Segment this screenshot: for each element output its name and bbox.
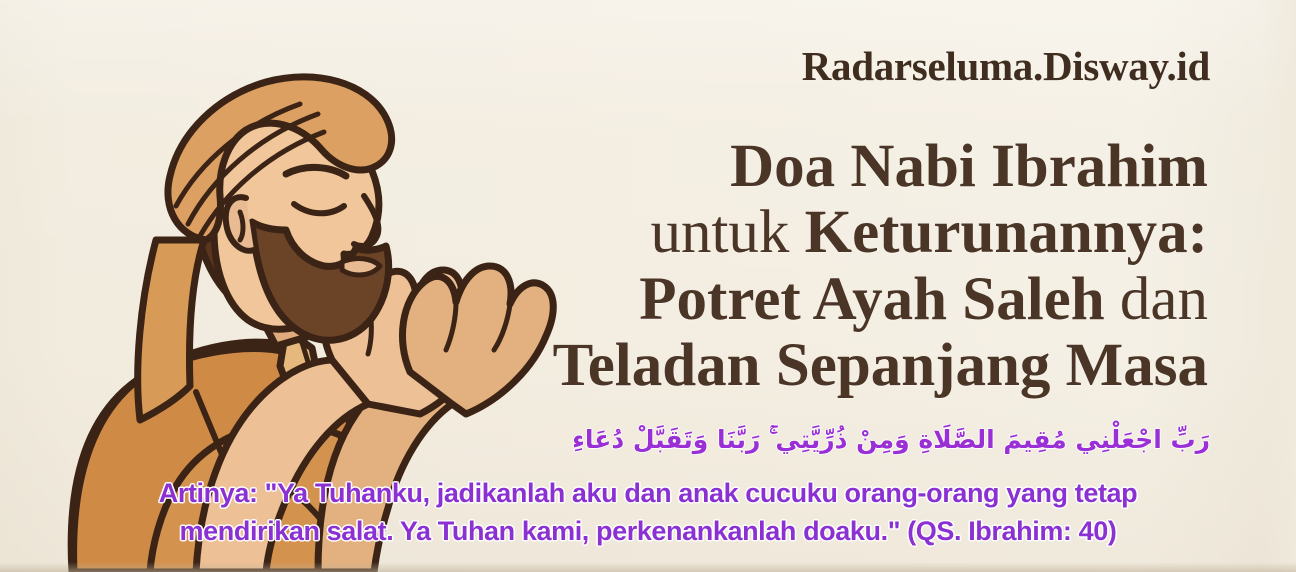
arabic-ayah-text: رَبِّ اجْعَلْنِي مُقِيمَ الصَّلَاةِ وَمِ… xyxy=(0,424,1210,455)
headline: Doa Nabi Ibrahim untuk Keturunannya: Pot… xyxy=(488,135,1208,401)
translation-line-1: Artinya: "Ya Tuhanku, jadikanlah aku dan… xyxy=(40,474,1256,512)
site-watermark: Radarseluma.Disway.id xyxy=(802,42,1210,90)
headline-line-4: Teladan Sepanjang Masa xyxy=(488,334,1208,397)
article-thumbnail-canvas: Radarseluma.Disway.id Doa Nabi Ibrahim u… xyxy=(0,0,1296,572)
headline-line-3-main: Potret Ayah Saleh xyxy=(639,266,1120,333)
background-right-edge xyxy=(1262,0,1296,572)
translation-line-2: mendirikan salat. Ya Tuhan kami, perkena… xyxy=(40,512,1256,550)
headline-line-2-prefix: untuk xyxy=(650,199,804,266)
headline-line-2: untuk Keturunannya: xyxy=(488,201,1208,264)
headline-line-1: Doa Nabi Ibrahim xyxy=(488,135,1208,198)
headline-line-3: Potret Ayah Saleh dan xyxy=(488,268,1208,331)
headline-line-2-main: Keturunannya: xyxy=(805,199,1208,266)
translation-block: Artinya: "Ya Tuhanku, jadikanlah aku dan… xyxy=(40,474,1256,551)
headline-line-3-suffix: dan xyxy=(1120,266,1208,333)
background-bottom-edge xyxy=(0,562,1296,572)
